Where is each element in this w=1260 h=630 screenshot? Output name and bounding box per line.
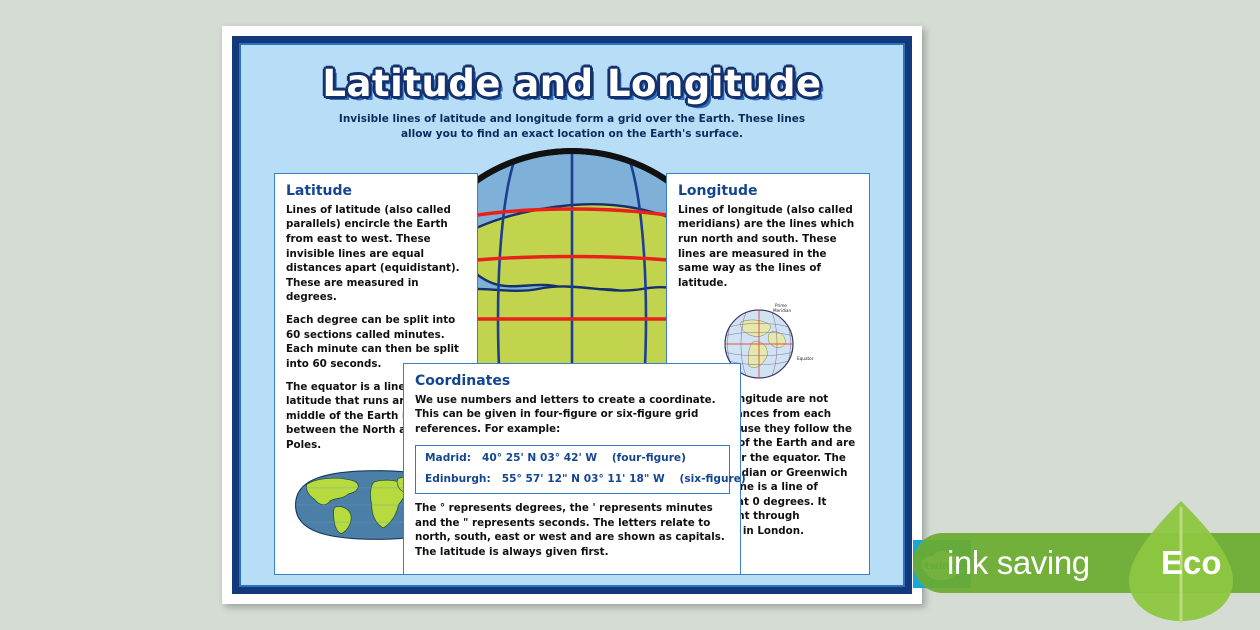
coordinate-note: (four-figure) (612, 452, 686, 464)
poster-inner-canvas: Latitude and Longitude Invisible lines o… (239, 43, 905, 587)
coordinate-value: 40° 25' N 03° 42' W (482, 452, 597, 464)
coordinate-examples-box: Madrid: 40° 25' N 03° 42' W (four-figure… (415, 445, 730, 495)
panel-coordinates: Coordinates We use numbers and letters t… (403, 363, 741, 575)
page-title: Latitude and Longitude (241, 65, 903, 104)
coordinate-row: Edinburgh: 55° 57' 12" N 03° 11' 18" W (… (425, 473, 721, 487)
page-subtitle: Invisible lines of latitude and longitud… (337, 112, 807, 142)
coordinate-value: 55° 57' 12" N 03° 11' 18" W (502, 473, 665, 485)
eco-label: Eco (1161, 541, 1222, 585)
panel-coordinates-intro: We use numbers and letters to create a c… (415, 393, 730, 437)
panel-coordinates-heading: Coordinates (415, 373, 730, 390)
coordinate-row: Madrid: 40° 25' N 03° 42' W (four-figure… (425, 452, 721, 466)
title-block: Latitude and Longitude Invisible lines o… (241, 65, 903, 142)
coordinate-note: (six-figure) (680, 473, 746, 485)
panel-coordinates-outro: The ° represents degrees, the ' represen… (415, 501, 730, 559)
svg-text:Meridian: Meridian (773, 308, 791, 313)
twinkl-logo: twinkl (913, 540, 971, 588)
poster-outer-border: Latitude and Longitude Invisible lines o… (232, 36, 912, 594)
coordinate-city: Edinburgh: (425, 473, 491, 485)
panel-latitude-heading: Latitude (286, 183, 467, 200)
panel-longitude-heading: Longitude (678, 183, 859, 200)
label-equator: Equator (797, 356, 814, 361)
panel-longitude-paragraph-top: Lines of longitude (also called meridian… (678, 203, 859, 291)
coordinate-city: Madrid: (425, 452, 471, 464)
twinkl-wordmark: twinkl (925, 561, 960, 572)
panel-latitude-paragraph-1: Lines of latitude (also called parallels… (286, 203, 467, 305)
leaf-icon (1121, 497, 1241, 625)
poster-sheet: Latitude and Longitude Invisible lines o… (222, 26, 922, 604)
